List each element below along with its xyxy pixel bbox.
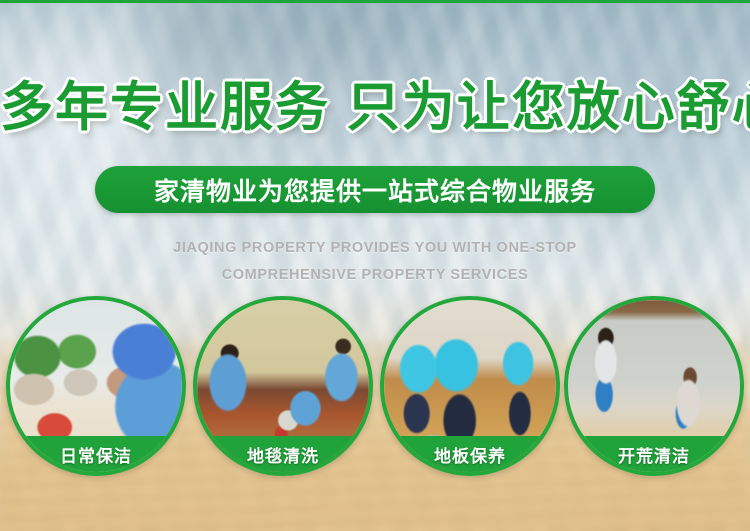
- english-subtitle: JIAQING PROPERTY PROVIDES YOU WITH ONE-S…: [0, 235, 750, 289]
- service-label-band: 日常保洁: [6, 436, 186, 472]
- page-title: 多年专业服务 只为让您放心舒心: [0, 81, 750, 134]
- service-label-band: 地毯清洗: [193, 436, 373, 472]
- english-subtitle-line-2: COMPREHENSIVE PROPERTY SERVICES: [0, 262, 750, 289]
- service-label: 日常保洁: [60, 442, 132, 467]
- service-label: 开荒清洁: [618, 442, 690, 467]
- tagline-text: 家清物业为您提供一站式综合物业服务: [154, 172, 596, 208]
- service-circle-daily-cleaning[interactable]: 日常保洁: [6, 296, 186, 476]
- service-circle-floor-maintenance[interactable]: 地板保养: [380, 296, 560, 476]
- service-circles: 日常保洁 地毯清洗 地板保养 开荒清洁: [0, 296, 750, 482]
- service-label-band: 开荒清洁: [564, 436, 744, 472]
- promotional-banner: 多年专业服务 只为让您放心舒心 家清物业为您提供一站式综合物业服务 JIAQIN…: [0, 0, 750, 531]
- service-label: 地板保养: [434, 442, 506, 467]
- service-circle-carpet-cleaning[interactable]: 地毯清洗: [193, 296, 373, 476]
- service-label: 地毯清洗: [247, 442, 319, 467]
- service-label-band: 地板保养: [380, 436, 560, 472]
- english-subtitle-line-1: JIAQING PROPERTY PROVIDES YOU WITH ONE-S…: [0, 235, 750, 262]
- tagline-banner: 家清物业为您提供一站式综合物业服务: [95, 166, 655, 213]
- service-circle-post-construction-cleaning[interactable]: 开荒清洁: [564, 296, 744, 476]
